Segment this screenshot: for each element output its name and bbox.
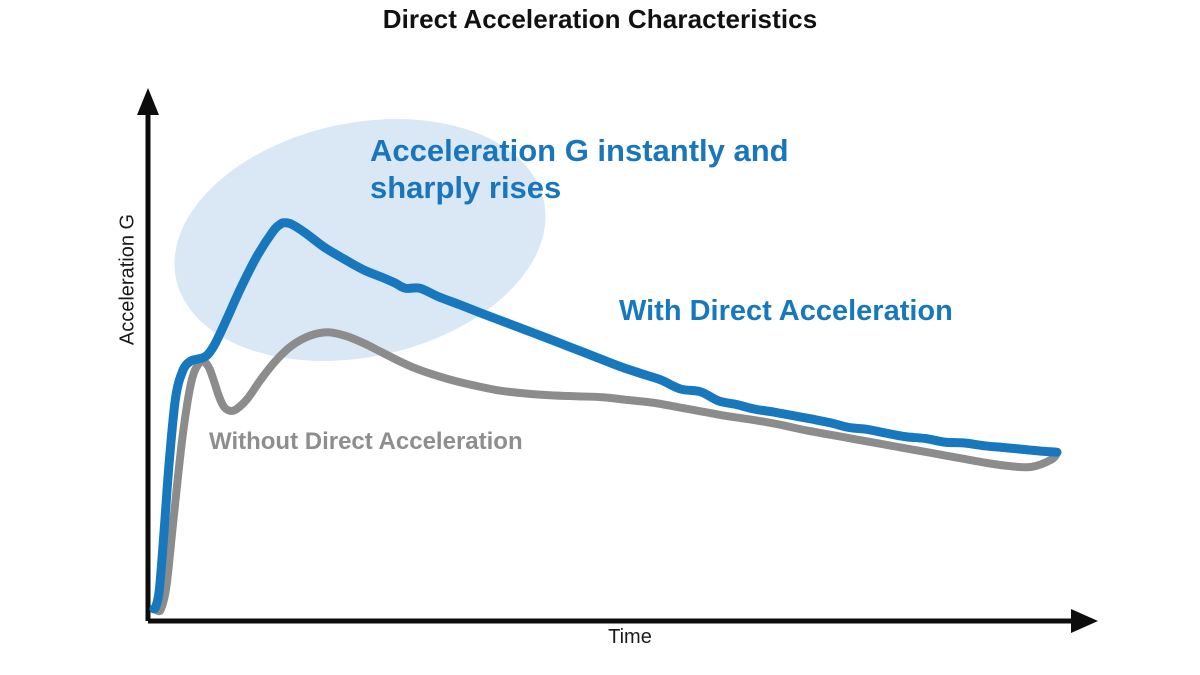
series-label-without-direct-acceleration: Without Direct Acceleration	[209, 428, 523, 456]
series-without-direct-acceleration	[157, 332, 1057, 611]
y-axis-label: Acceleration G	[117, 150, 140, 410]
callout-annotation: Acceleration G instantly and sharply ris…	[370, 133, 990, 206]
chart-plot-area	[0, 0, 1200, 675]
series-label-with-direct-acceleration: With Direct Acceleration	[619, 295, 953, 328]
chart-canvas: Direct Acceleration Characteristics Acce…	[0, 0, 1200, 675]
x-axis-label: Time	[540, 626, 720, 649]
